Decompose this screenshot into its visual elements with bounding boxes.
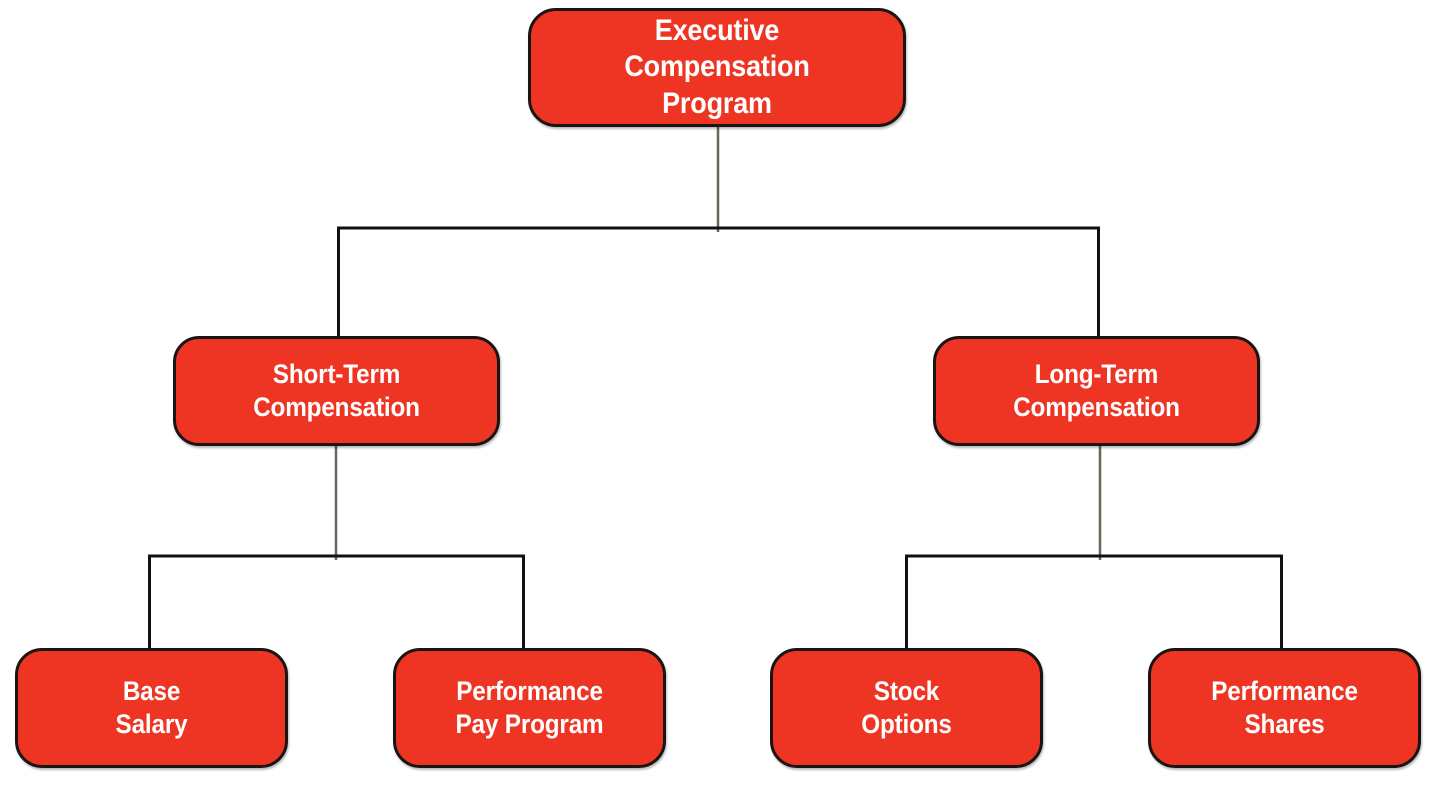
node-stock-options[interactable]: Stock Options: [770, 648, 1043, 768]
node-label: Short-Term Compensation: [192, 358, 481, 424]
node-short-term-compensation[interactable]: Short-Term Compensation: [173, 336, 500, 446]
node-label: Executive Compensation Program: [550, 13, 885, 123]
node-performance-shares[interactable]: Performance Shares: [1148, 648, 1421, 768]
node-label: Base Salary: [31, 675, 271, 741]
org-chart-diagram: Executive Compensation Program Short-Ter…: [0, 0, 1429, 786]
node-label: Performance Pay Program: [409, 675, 649, 741]
node-label: Long-Term Compensation: [952, 358, 1241, 424]
node-long-term-compensation[interactable]: Long-Term Compensation: [933, 336, 1260, 446]
node-label: Stock Options: [786, 675, 1026, 741]
node-label: Performance Shares: [1164, 675, 1404, 741]
node-executive-compensation-program[interactable]: Executive Compensation Program: [528, 8, 906, 127]
node-performance-pay-program[interactable]: Performance Pay Program: [393, 648, 666, 768]
node-base-salary[interactable]: Base Salary: [15, 648, 288, 768]
